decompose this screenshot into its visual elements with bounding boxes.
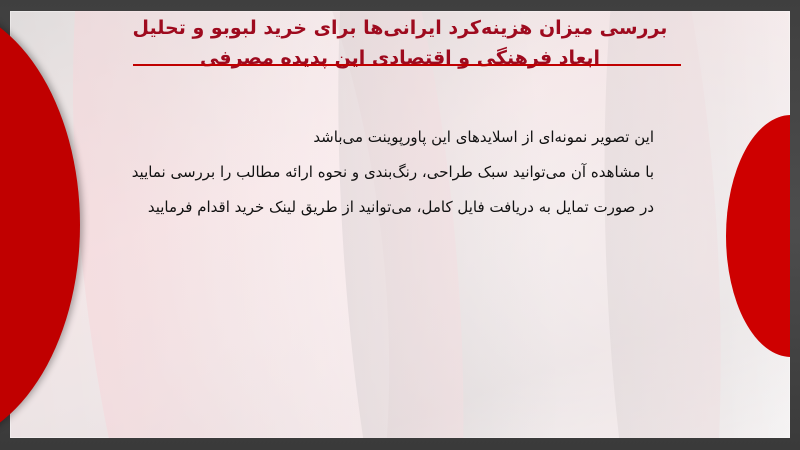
title-underline-rule <box>133 64 681 66</box>
red-right-ellipse-icon <box>726 115 790 357</box>
body-line-1: این تصویر نمونه‌ای از اسلایدهای این پاور… <box>44 120 654 155</box>
slide-body: این تصویر نمونه‌ای از اسلایدهای این پاور… <box>44 120 654 225</box>
title-line-1: بررسی میزان هزینه‌کرد ایرانی‌ها برای خری… <box>0 13 800 43</box>
body-line-2: با مشاهده آن می‌توانید سبک طراحی، رنگ‌بن… <box>44 155 654 190</box>
title-line-2: ابعاد فرهنگی و اقتصادی این پدیده مصرفی <box>0 43 800 73</box>
body-line-3: در صورت تمایل به دریافت فایل کامل، می‌تو… <box>44 190 654 225</box>
presentation-slide: بررسی میزان هزینه‌کرد ایرانی‌ها برای خری… <box>0 0 800 450</box>
